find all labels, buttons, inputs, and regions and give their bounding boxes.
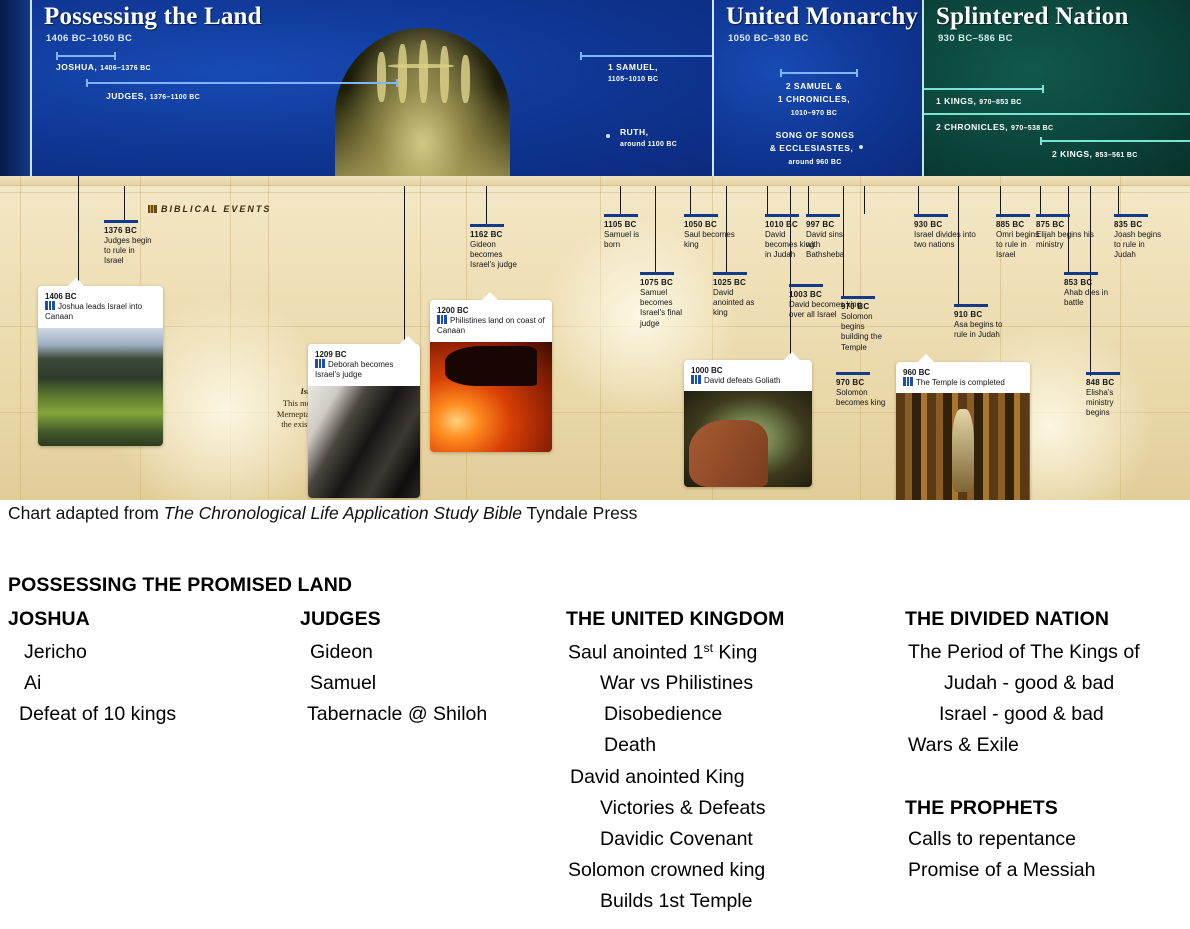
- outline-item: Tabernacle @ Shiloh: [307, 703, 487, 726]
- israel-stele-photo: [335, 28, 510, 176]
- outline-item: David anointed King: [570, 766, 745, 789]
- photo-sling-stones: [684, 391, 812, 487]
- event-tick: 853 BC Ahab dies in battle: [1064, 272, 1116, 308]
- callout-card: 960 BC The Temple is completed: [896, 362, 1030, 500]
- event-tick: 910 BC Asa begins to rule in Judah: [954, 304, 1014, 340]
- era-panel-splintered-nation: Splintered Nation 930 BC–586 BC 1 KINGS,…: [922, 0, 1190, 176]
- range-bar-1-samuel: [580, 55, 712, 57]
- outline-item: Judah - good & bad: [944, 672, 1114, 695]
- outline-item: Samuel: [310, 672, 376, 695]
- event-tick: 1025 BC David anointed as king: [713, 272, 765, 319]
- callout-card: 1209 BC Deborah becomes Israel's judge: [308, 344, 420, 498]
- event-tick: 1075 BC Samuel becomes Israel's final ju…: [640, 272, 692, 329]
- outline-item: Death: [604, 734, 656, 757]
- bible-icon: [903, 377, 913, 386]
- photo-temple-interior: [896, 393, 1030, 500]
- book-label-1-samuel: 1 SAMUEL, 1105–1010 BC: [608, 62, 658, 85]
- outline-item: Israel - good & bad: [939, 703, 1104, 726]
- outline-item: Saul anointed 1st King: [568, 641, 757, 665]
- bible-icon: [45, 301, 55, 310]
- outline-item: Defeat of 10 kings: [19, 703, 176, 726]
- range-bar-joshua: [56, 55, 116, 57]
- event-tick: 970 BC Solomon begins building the Templ…: [841, 296, 893, 353]
- range-dot-ruth: [606, 134, 610, 138]
- book-label-song-of-songs: SONG OF SONGS & ECCLESIASTES, around 960…: [730, 129, 900, 168]
- lesson-outline: POSSESSING THE PROMISED LAND JOSHUA Jeri…: [0, 560, 1190, 929]
- outline-item: Wars & Exile: [908, 734, 1019, 757]
- book-label-ruth: RUTH, around 1100 BC: [620, 127, 677, 150]
- chart-source-caption: Chart adapted from The Chronological Lif…: [8, 503, 1178, 524]
- event-tick: 1105 BC Samuel is born: [604, 214, 656, 250]
- outline-heading-judges: JUDGES: [300, 608, 381, 631]
- book-label-1-kings: 1 KINGS, 970–853 BC: [936, 96, 1022, 107]
- bible-icon: [691, 375, 701, 384]
- outline-heading-united-kingdom: THE UNITED KINGDOM: [566, 608, 784, 631]
- range-bar-1-kings: [922, 88, 1044, 90]
- events-strip-top-rule: [0, 176, 1190, 186]
- outline-item: Builds 1st Temple: [600, 890, 752, 913]
- outline-item: The Period of The Kings of: [908, 641, 1140, 664]
- caption-book-title: The Chronological Life Application Study…: [164, 503, 522, 523]
- photo-canaan-landscape: [38, 328, 163, 446]
- photo-deborah-engraving: [308, 386, 420, 498]
- outline-item: Promise of a Messiah: [908, 859, 1096, 882]
- era-dates-splintered-nation: 930 BC–586 BC: [938, 33, 1013, 44]
- bible-icon: [315, 359, 325, 368]
- outline-item: Jericho: [24, 641, 87, 664]
- outline-item: Solomon crowned king: [568, 859, 765, 882]
- outline-heading-joshua: JOSHUA: [8, 608, 90, 631]
- outline-item: Disobedience: [604, 703, 722, 726]
- event-tick: 1050 BC Saul becomes king: [684, 214, 736, 250]
- book-label-2-chronicles: 2 CHRONICLES, 970–538 BC: [936, 122, 1053, 133]
- outline-heading-divided-nation: THE DIVIDED NATION: [905, 608, 1109, 631]
- caption-post: Tyndale Press: [522, 503, 637, 523]
- caption-pre: Chart adapted from: [8, 503, 164, 523]
- event-tick: 997 BC David sins with Bathsheba: [806, 214, 858, 261]
- book-label-joshua: JOSHUA, 1406–1376 BC: [56, 62, 151, 73]
- callout-card: 1000 BC David defeats Goliath: [684, 360, 812, 487]
- event-tick: 835 BC Joash begins to rule in Judah: [1114, 214, 1166, 261]
- era-title-splintered-nation: Splintered Nation: [936, 3, 1129, 31]
- outline-item: Calls to repentance: [908, 828, 1076, 851]
- event-tick: 1162 BC Gideon becomes Israel's judge: [470, 224, 522, 271]
- era-dates-possessing: 1406 BC–1050 BC: [46, 33, 132, 44]
- biblical-events-strip: BIBLICAL EVENTS Israel Stele 1213 BC Thi…: [0, 176, 1190, 500]
- event-tick: 875 BC Elijah begins his ministry: [1036, 214, 1096, 250]
- event-tick: 1376 BC Judges begin to rule in Israel: [104, 220, 156, 267]
- range-bar-2-kings: [1040, 140, 1190, 142]
- era-panel-united-monarchy: United Monarchy 1050 BC–930 BC 2 SAMUEL …: [712, 0, 922, 176]
- bible-icon: [437, 315, 447, 324]
- book-label-2-samuel-1-chronicles: 2 SAMUEL & 1 CHRONICLES, 1010–970 BC: [734, 80, 894, 119]
- event-tick: 848 BC Elisha's ministry begins: [1086, 372, 1138, 419]
- outline-item: Davidic Covenant: [600, 828, 753, 851]
- era-header-band: Possessing the Land 1406 BC–1050 BC JOSH…: [0, 0, 1190, 176]
- timeline-graphic: Possessing the Land 1406 BC–1050 BC JOSH…: [0, 0, 1190, 500]
- outline-item: Ai: [24, 672, 41, 695]
- band-left-edge: [0, 0, 30, 176]
- outline-main-title: POSSESSING THE PROMISED LAND: [8, 574, 352, 597]
- callout-card: 1200 BC Philistines land on coast of Can…: [430, 300, 552, 452]
- event-tick: 970 BC Solomon becomes king: [836, 372, 888, 408]
- era-dates-united-monarchy: 1050 BC–930 BC: [728, 33, 809, 44]
- era-panel-possessing-the-land: Possessing the Land 1406 BC–1050 BC JOSH…: [30, 0, 712, 176]
- book-label-judges: JUDGES, 1376–1100 BC: [106, 91, 200, 102]
- biblical-events-label: BIBLICAL EVENTS: [148, 204, 271, 214]
- range-bar-2-chronicles: [922, 113, 1190, 115]
- callout-card: 1406 BC Joshua leads Israel into Canaan: [38, 286, 163, 446]
- range-bar-judges: [86, 82, 398, 84]
- event-tick teal: 930 BC Israel divides into two nations: [914, 214, 986, 250]
- outline-item: Victories & Defeats: [600, 797, 765, 820]
- era-title-united-monarchy: United Monarchy: [726, 3, 918, 31]
- outline-item: Gideon: [310, 641, 373, 664]
- outline-item: War vs Philistines: [600, 672, 753, 695]
- era-title-possessing: Possessing the Land: [44, 3, 262, 31]
- book-icon: [148, 205, 157, 213]
- book-label-2-kings: 2 KINGS, 853–561 BC: [1052, 149, 1138, 160]
- photo-philistine-ship-sunset: [430, 342, 552, 452]
- range-bar-2-samuel-1-chronicles: [780, 72, 858, 74]
- outline-heading-prophets: THE PROPHETS: [905, 797, 1058, 820]
